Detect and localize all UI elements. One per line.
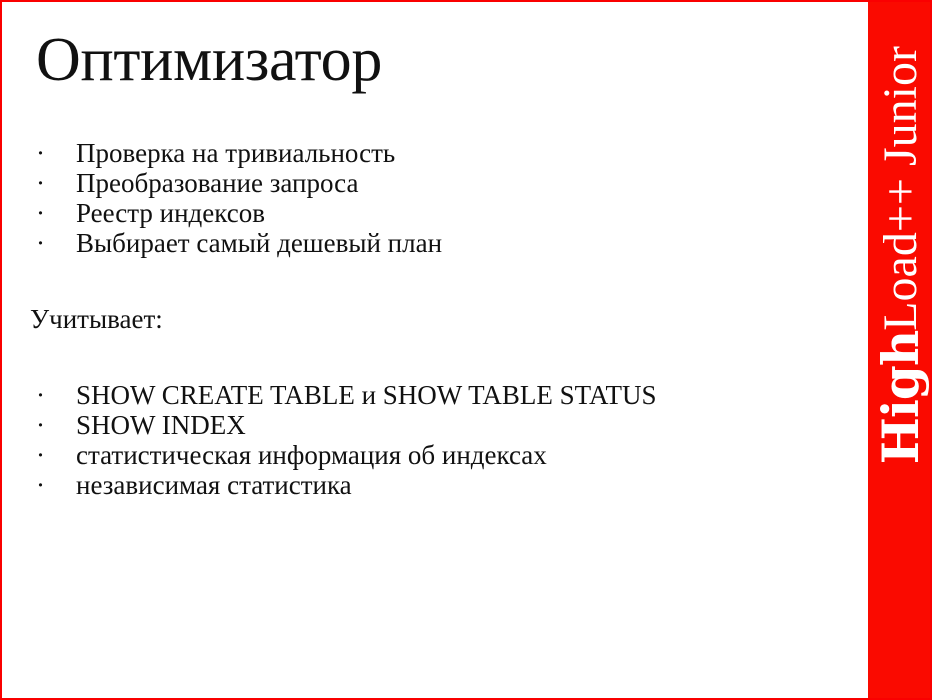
list-item: · SHOW INDEX (0, 410, 868, 440)
list-item-label: Проверка на тривиальность (76, 138, 395, 168)
list-item-label: статистическая информация об индексах (76, 440, 547, 470)
bullet-marker-icon: · (36, 228, 46, 258)
list-item: · статистическая информация об индексах (0, 440, 868, 470)
brand-text-row: HighLoad++ Junior (868, 0, 932, 700)
list-item-label: SHOW INDEX (76, 410, 246, 440)
bullet-marker-icon: · (36, 198, 46, 228)
bullet-marker-icon: · (36, 470, 46, 500)
list-item: · независимая статистика (0, 470, 868, 500)
bullet-marker-icon: · (36, 380, 46, 410)
list-item: · Преобразование запроса (0, 168, 868, 198)
bullet-marker-icon: · (36, 410, 46, 440)
brand-name-bold: High (871, 331, 930, 465)
bullet-list-inputs: · SHOW CREATE TABLE и SHOW TABLE STATUS … (0, 380, 868, 500)
section-lead-in-label: Учитывает: (0, 304, 868, 334)
spacer (0, 334, 868, 380)
presentation-slide: Оптимизатор · Проверка на тривиальность … (0, 0, 932, 700)
spacer (0, 258, 868, 304)
list-item: · Выбирает самый дешевый план (0, 228, 868, 258)
page-title: Оптимизатор (36, 26, 382, 95)
conference-brand-sidebar: HighLoad++ Junior (868, 0, 932, 700)
list-item: · Реестр индексов (0, 198, 868, 228)
brand-rotation-wrapper: HighLoad++ Junior (868, 0, 932, 700)
list-item-label: Выбирает самый дешевый план (76, 228, 442, 258)
bullet-marker-icon: · (36, 168, 46, 198)
list-item-label: SHOW CREATE TABLE и SHOW TABLE STATUS (76, 380, 657, 410)
list-item-label: Реестр индексов (76, 198, 265, 228)
list-item: · Проверка на тривиальность (0, 138, 868, 168)
bullet-marker-icon: · (36, 138, 46, 168)
bullet-marker-icon: · (36, 440, 46, 470)
slide-content-area: Оптимизатор · Проверка на тривиальность … (0, 0, 868, 700)
list-item-label: Преобразование запроса (76, 168, 358, 198)
brand-name-light: Load++ Junior (873, 46, 928, 331)
bullet-list-capabilities: · Проверка на тривиальность · Преобразов… (0, 138, 868, 258)
slide-body: · Проверка на тривиальность · Преобразов… (0, 138, 868, 500)
list-item-label: независимая статистика (76, 470, 352, 500)
list-item: · SHOW CREATE TABLE и SHOW TABLE STATUS (0, 380, 868, 410)
